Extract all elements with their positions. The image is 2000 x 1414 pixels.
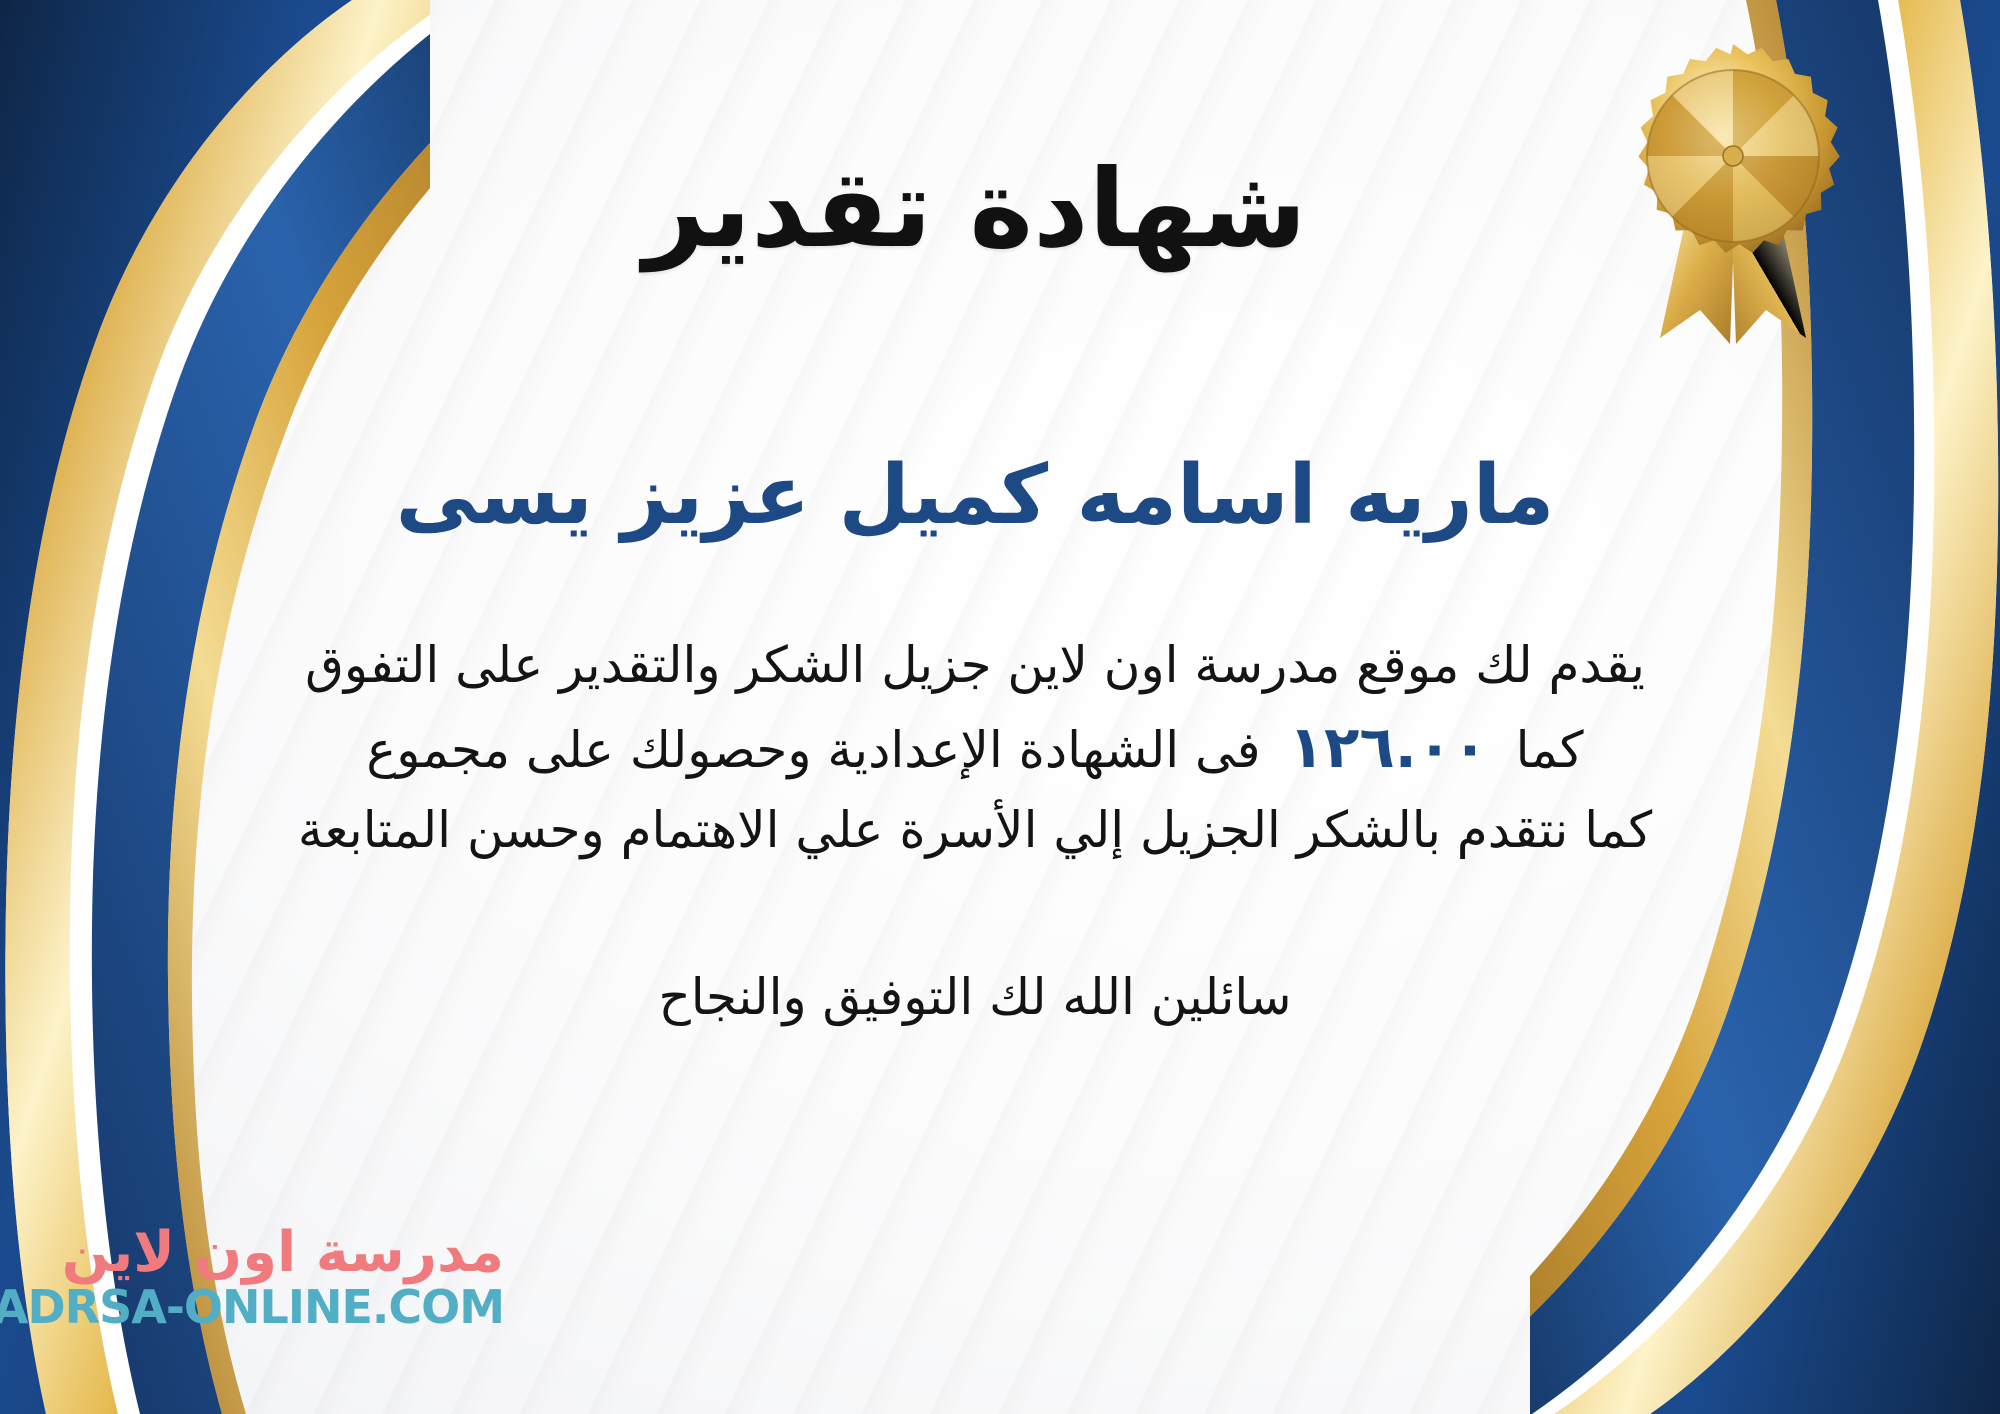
brand-logo-row: مدرسة اون لاين MADRSA-ONLINE.COM — [34, 1223, 504, 1332]
body-line-3: كما نتقدم بالشكر الجزيل إلي الأسرة علي ا… — [70, 792, 1880, 868]
brand-text-group: مدرسة اون لاين MADRSA-ONLINE.COM — [0, 1223, 504, 1332]
certificate-body: يقدم لك موقع مدرسة اون لاين جزيل الشكر و… — [70, 627, 1880, 867]
brand-website: MADRSA-ONLINE.COM — [0, 1283, 504, 1331]
gold-rosette-medal-icon — [1608, 38, 1858, 368]
score-value: ١٢٦.٠٠ — [1261, 713, 1516, 781]
certificate-canvas: شهادة تقدير ماريه اسامه كميل عزيز يسى يق… — [0, 0, 2000, 1414]
closing-line: سائلين الله لك التوفيق والنجاح — [70, 960, 1880, 1035]
body-line-1: يقدم لك موقع مدرسة اون لاين جزيل الشكر و… — [70, 627, 1880, 703]
brand-arabic-name: مدرسة اون لاين — [62, 1223, 504, 1283]
body-line-2-suffix: كما — [1516, 721, 1584, 779]
body-line-2-prefix: فى الشهادة الإعدادية وحصولك على مجموع — [366, 721, 1260, 779]
recipient-name: ماريه اسامه كميل عزيز يسى — [70, 447, 1880, 545]
body-line-2: كما١٢٦.٠٠فى الشهادة الإعدادية وحصولك على… — [70, 703, 1880, 791]
brand-logo[interactable]: مدرسة اون لاين MADRSA-ONLINE.COM — [34, 1223, 504, 1388]
